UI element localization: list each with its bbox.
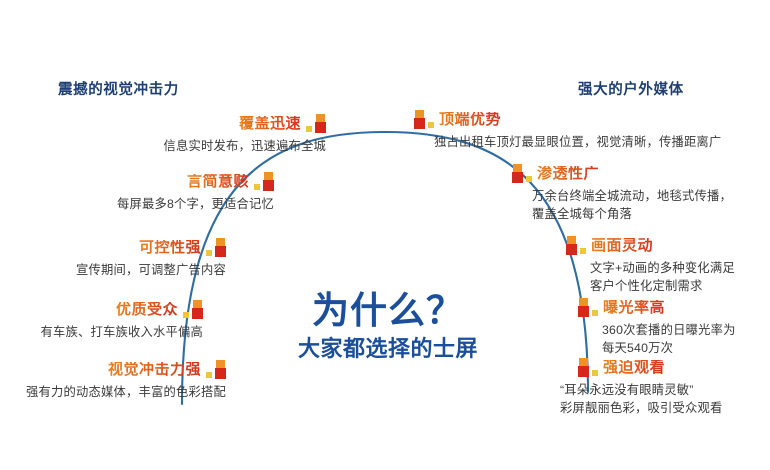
square-cluster-icon: [206, 360, 226, 379]
feature-item-left-4: 优质受众 有车族、打车族收入水平偏高: [41, 300, 203, 342]
feature-title: 视觉冲击力强: [108, 362, 201, 377]
page-title: 为什么？: [238, 292, 538, 329]
feature-head: 强迫观看: [578, 358, 722, 377]
feature-description: 信息实时发布，迅速遍布全城: [164, 138, 326, 156]
section-heading-right: 强大的户外媒体: [578, 78, 684, 99]
page-subtitle: 大家都选择的士屏: [238, 336, 538, 361]
feature-head: 顶端优势: [414, 110, 721, 129]
section-heading-left: 震撼的视觉冲击力: [58, 78, 179, 99]
infographic-canvas: 震撼的视觉冲击力 强大的户外媒体 为什么？ 大家都选择的士屏 覆盖迅速 信息实时…: [0, 0, 770, 470]
feature-title: 画面灵动: [591, 238, 653, 253]
feature-description: “耳朵永远没有眼睛灵敏”彩屏靓丽色彩，吸引受众观看: [560, 382, 722, 418]
feature-description: 360次套播的日曝光率为每天540万次: [602, 322, 736, 358]
feature-head: 覆盖迅速: [164, 114, 326, 133]
feature-head: 可控性强: [76, 238, 226, 257]
square-cluster-icon: [306, 114, 326, 133]
feature-description: 每屏最多8个字，更适合记忆: [117, 196, 274, 214]
feature-head: 视觉冲击力强: [26, 360, 226, 379]
square-cluster-icon: [578, 358, 598, 377]
square-cluster-icon: [414, 110, 434, 129]
feature-title: 渗透性广: [537, 166, 599, 181]
feature-description: 有车族、打车族收入水平偏高: [41, 324, 203, 342]
feature-title: 顶端优势: [439, 112, 501, 127]
feature-description: 万余台终端全城流动，地毯式传播，覆盖全城每个角落: [532, 188, 732, 224]
feature-item-left-1: 覆盖迅速 信息实时发布，迅速遍布全城: [164, 114, 326, 156]
feature-description: 独占出租车顶灯最显眼位置，视觉清晰，传播距离广: [434, 134, 721, 152]
feature-item-left-2: 言简意赅 每屏最多8个字，更适合记忆: [117, 172, 274, 214]
square-cluster-icon: [566, 236, 586, 255]
feature-title: 强迫观看: [603, 360, 665, 375]
feature-item-right-3: 画面灵动 文字+动画的多种变化满足客户个性化定制需求: [566, 236, 735, 296]
feature-item-right-2: 渗透性广 万余台终端全城流动，地毯式传播，覆盖全城每个角落: [512, 164, 732, 224]
feature-item-right-4: 曝光率高 360次套播的日曝光率为每天540万次: [578, 298, 736, 358]
feature-description: 强有力的动态媒体，丰富的色彩搭配: [26, 384, 226, 402]
feature-item-right-1: 顶端优势 独占出租车顶灯最显眼位置，视觉清晰，传播距离广: [414, 110, 721, 152]
square-cluster-icon: [206, 238, 226, 257]
feature-title: 曝光率高: [603, 300, 665, 315]
square-cluster-icon: [512, 164, 532, 183]
feature-item-left-3: 可控性强 宣传期间，可调整广告内容: [76, 238, 226, 280]
feature-title: 覆盖迅速: [239, 116, 301, 131]
feature-title: 言简意赅: [187, 174, 249, 189]
square-cluster-icon: [183, 300, 203, 319]
feature-description: 文字+动画的多种变化满足客户个性化定制需求: [590, 260, 735, 296]
square-cluster-icon: [254, 172, 274, 191]
feature-head: 渗透性广: [512, 164, 732, 183]
square-cluster-icon: [578, 298, 598, 317]
feature-head: 言简意赅: [117, 172, 274, 191]
feature-title: 可控性强: [139, 240, 201, 255]
feature-head: 曝光率高: [578, 298, 736, 317]
feature-description: 宣传期间，可调整广告内容: [76, 262, 226, 280]
feature-title: 优质受众: [116, 302, 178, 317]
center-title-block: 为什么？ 大家都选择的士屏: [238, 292, 538, 361]
feature-head: 画面灵动: [566, 236, 735, 255]
feature-item-left-5: 视觉冲击力强 强有力的动态媒体，丰富的色彩搭配: [26, 360, 226, 402]
feature-head: 优质受众: [41, 300, 203, 319]
feature-item-right-5: 强迫观看 “耳朵永远没有眼睛灵敏”彩屏靓丽色彩，吸引受众观看: [578, 358, 722, 418]
